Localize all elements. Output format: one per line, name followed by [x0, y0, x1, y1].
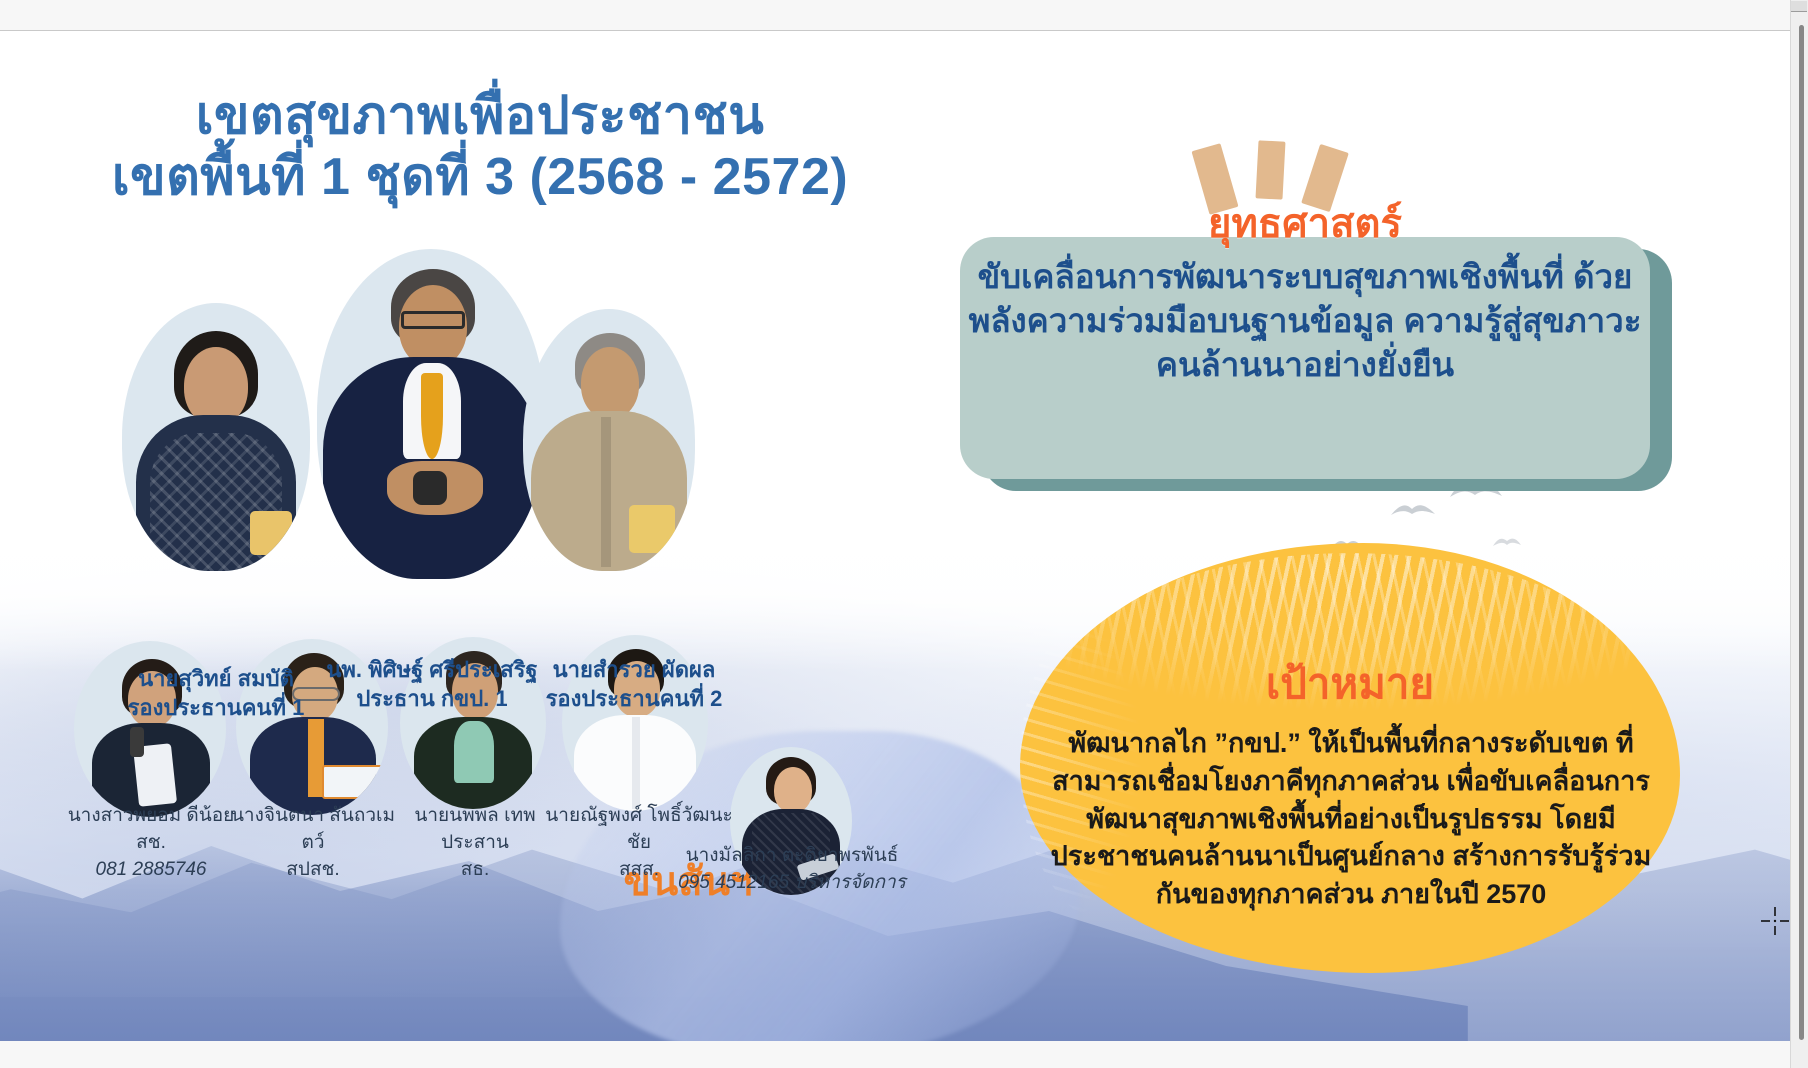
goal-heading: เป้าหมาย — [1020, 651, 1680, 717]
goal-panel: เป้าหมาย พัฒนากลไก ”กขป.” ให้เป็นพื้นที่… — [1020, 543, 1690, 993]
slide-canvas: เขตสุขภาพเพื่อประชาชน เขตพื้นที่ 1 ชุดที… — [0, 31, 1790, 1041]
member-org: สปสช. — [224, 857, 402, 884]
leader-photo-3 — [523, 309, 695, 571]
leader-photo-2 — [317, 249, 545, 579]
vertical-scrollbar[interactable] — [1790, 0, 1808, 1068]
secretary-tel-role: 095 4512165 บริหารจัดการ — [672, 870, 912, 897]
crosshair-cursor-icon — [1761, 907, 1789, 935]
title-line-2: เขตพื้นที่ 1 ชุดที่ 3 (2568 - 2572) — [40, 147, 920, 208]
leader-caption-1: นายสุวิทย์ สมบัติ รองประธานคนที่ 1 — [110, 665, 322, 722]
secretary-caption: นางมัลลิกา ตะติยาพรพันธ์ 095 4512165 บริ… — [672, 843, 912, 897]
bird-icon — [1390, 501, 1436, 521]
leader-name: นพ. พิศิษฐ์ ศรีประเสริฐ — [326, 657, 537, 682]
strategy-heading: ยุทธศาสตร์ — [960, 191, 1650, 255]
leader-caption-3: นายสำรวย ผัดผล รองประธานคนที่ 2 — [530, 656, 738, 713]
member-caption-2: นางจินตนา สันถวเมตว์ สปสช. — [224, 803, 402, 884]
strategy-panel: ยุทธศาสตร์ ขับเคลื่อนการพัฒนาระบบสุขภาพเ… — [960, 141, 1690, 491]
member-tel: 081 2885746 — [62, 857, 240, 884]
member-name: นายนพพล เทพประสาน — [414, 805, 535, 853]
title-line-1: เขตสุขภาพเพื่อประชาชน — [40, 86, 920, 147]
viewer-top-band — [0, 0, 1790, 31]
leader-photo-1 — [122, 303, 310, 571]
leader-name: นายสำรวย ผัดผล — [553, 657, 716, 682]
leader-caption-2: นพ. พิศิษฐ์ ศรีประเสริฐ ประธาน กขป. 1 — [316, 656, 548, 713]
scrollbar-thumb[interactable] — [1799, 25, 1804, 1040]
scrollbar-top-box[interactable] — [1791, 1, 1807, 12]
member-name: นางสาวพยอม ดีน้อย — [68, 805, 235, 826]
goal-body: พัฒนากลไก ”กขป.” ให้เป็นพื้นที่กลางระดับ… — [1044, 725, 1658, 914]
strategy-body: ขับเคลื่อนการพัฒนาระบบสุขภาพเชิงพื้นที่ … — [966, 255, 1644, 388]
leader-role: รองประธานคนที่ 1 — [110, 694, 322, 723]
member-org: สธ. — [386, 857, 564, 884]
member-name: นางจินตนา สันถวเมตว์ — [231, 805, 395, 853]
leader-role: ประธาน กขป. 1 — [316, 685, 548, 714]
document-viewer: เขตสุขภาพเพื่อประชาชน เขตพื้นที่ 1 ชุดที… — [0, 0, 1808, 1068]
secretary-name: นางมัลลิกา ตะติยาพรพันธ์ — [686, 845, 899, 866]
slide-title: เขตสุขภาพเพื่อประชาชน เขตพื้นที่ 1 ชุดที… — [40, 86, 920, 209]
member-caption-1: นางสาวพยอม ดีน้อย สช. 081 2885746 — [62, 803, 240, 884]
leader-role: รองประธานคนที่ 2 — [530, 685, 738, 714]
member-org: สช. — [62, 830, 240, 857]
member-caption-3: นายนพพล เทพประสาน สธ. — [386, 803, 564, 884]
leader-name: นายสุวิทย์ สมบัติ — [138, 666, 294, 691]
